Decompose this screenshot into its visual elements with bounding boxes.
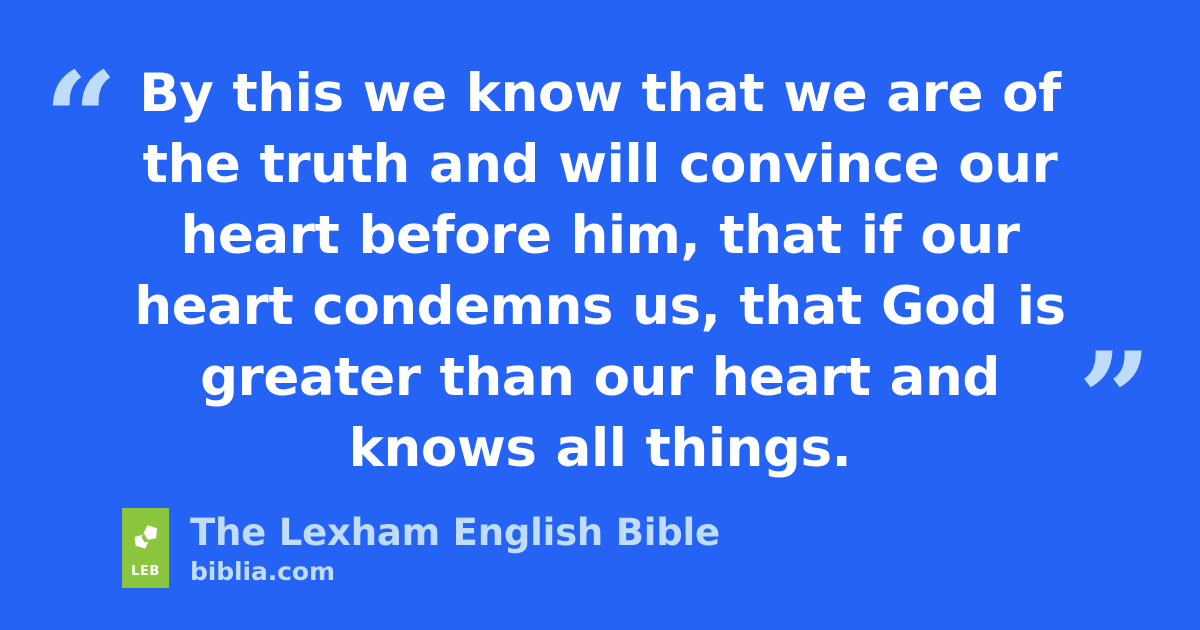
attribution-text: The Lexham English Bible biblia.com	[190, 508, 720, 587]
leb-pages-icon	[131, 522, 161, 552]
attribution: LEB The Lexham English Bible biblia.com	[122, 508, 720, 588]
bible-version-title: The Lexham English Bible	[190, 511, 720, 555]
quote-text: By this we know that we are of the truth…	[130, 58, 1070, 484]
leb-logo: LEB	[122, 508, 169, 588]
closing-quote-mark: ”	[1078, 336, 1152, 464]
opening-quote-mark: “	[44, 56, 118, 184]
leb-logo-label: LEB	[122, 564, 169, 579]
quote-block: “ By this we know that we are of the tru…	[0, 40, 1200, 420]
website-label: biblia.com	[190, 556, 720, 587]
